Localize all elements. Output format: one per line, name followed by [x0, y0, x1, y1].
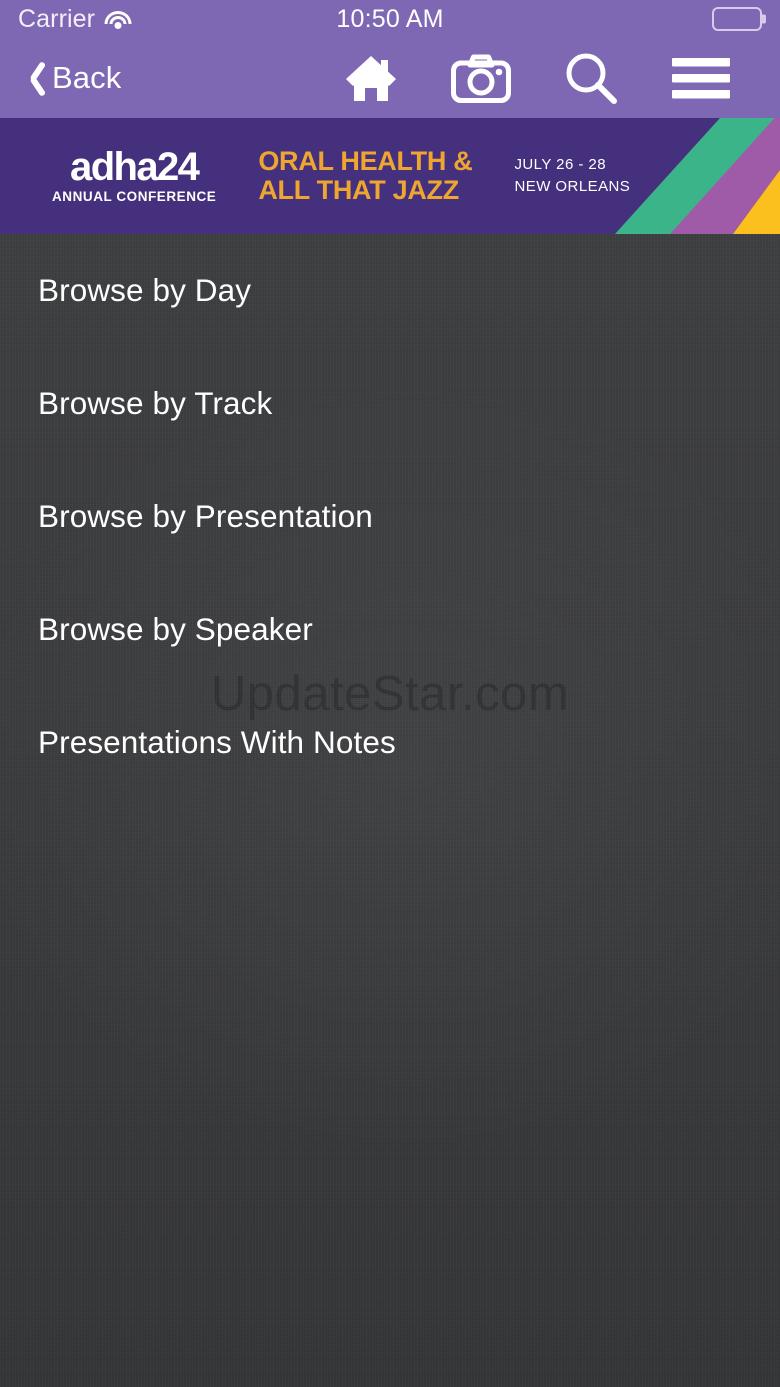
banner-theme: ORAL HEALTH & ALL THAT JAZZ — [258, 147, 472, 205]
menu-item-browse-by-speaker[interactable]: Browse by Speaker — [0, 573, 780, 686]
status-bar-clock: 10:50 AM — [0, 5, 780, 34]
adha-logo-wordmark: adha24 — [70, 148, 198, 186]
banner-theme-line2: ALL THAT JAZZ — [258, 176, 472, 205]
adha-logo: adha24 ANNUAL CONFERENCE — [52, 148, 216, 204]
hamburger-menu-icon — [672, 56, 730, 100]
search-button[interactable] — [536, 38, 646, 118]
nav-icon-group — [316, 38, 780, 118]
adha-logo-tagline: ANNUAL CONFERENCE — [52, 189, 216, 204]
menu-item-browse-by-presentation[interactable]: Browse by Presentation — [0, 460, 780, 573]
menu-item-presentations-with-notes[interactable]: Presentations With Notes — [0, 686, 780, 799]
hamburger-menu-button[interactable] — [646, 38, 756, 118]
list-item-label: Browse by Presentation — [38, 501, 373, 533]
status-bar: Carrier 10:50 AM — [0, 0, 780, 38]
banner-dates: JULY 26 - 28 — [514, 154, 630, 176]
menu-item-browse-by-track[interactable]: Browse by Track — [0, 347, 780, 460]
camera-icon — [451, 53, 511, 103]
chevron-left-icon — [20, 59, 42, 97]
conference-banner[interactable]: adha24 ANNUAL CONFERENCE ORAL HEALTH & A… — [0, 118, 780, 234]
back-button[interactable]: Back — [0, 59, 121, 97]
search-icon — [563, 50, 619, 106]
navigation-bar: Back — [0, 38, 780, 118]
browse-menu-list: Browse by Day Browse by Track Browse by … — [0, 234, 780, 799]
home-icon — [343, 52, 399, 104]
list-item-label: Browse by Speaker — [38, 614, 313, 646]
home-button[interactable] — [316, 38, 426, 118]
menu-item-browse-by-day[interactable]: Browse by Day — [0, 234, 780, 347]
banner-content: adha24 ANNUAL CONFERENCE ORAL HEALTH & A… — [0, 118, 780, 234]
back-button-label: Back — [52, 60, 121, 96]
battery-full-icon — [712, 7, 762, 31]
camera-button[interactable] — [426, 38, 536, 118]
list-item-label: Browse by Track — [38, 388, 272, 420]
list-item-label: Browse by Day — [38, 275, 251, 307]
banner-theme-line1: ORAL HEALTH & — [258, 147, 472, 176]
banner-location: NEW ORLEANS — [514, 176, 630, 198]
status-bar-right — [712, 7, 762, 31]
banner-details: JULY 26 - 28 NEW ORLEANS — [514, 154, 630, 198]
list-item-label: Presentations With Notes — [38, 727, 396, 759]
app-screen: Carrier 10:50 AM Back — [0, 0, 780, 1387]
content-area: UpdateStar.com Browse by Day Browse by T… — [0, 234, 780, 1387]
